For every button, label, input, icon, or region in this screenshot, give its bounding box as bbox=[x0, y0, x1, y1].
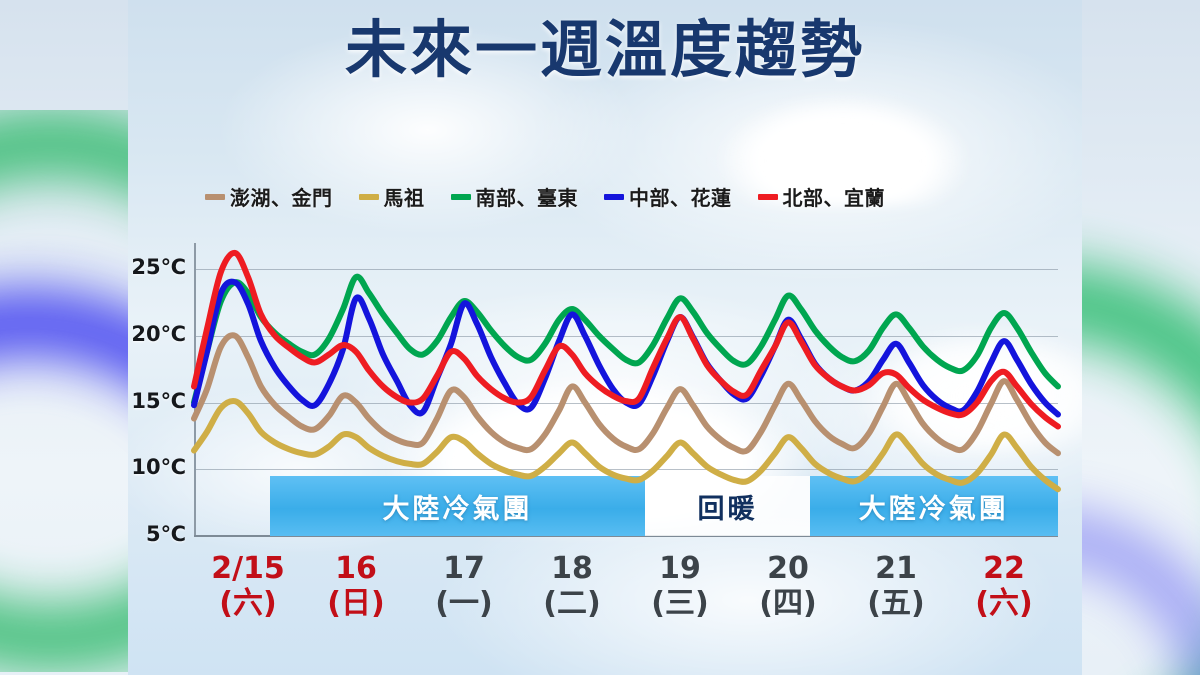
legend-swatch-icon bbox=[359, 194, 379, 200]
x-tick-weekday: (六) bbox=[194, 586, 302, 622]
legend-item-central_hualien: 中部、花蓮 bbox=[604, 182, 732, 211]
legend-label: 南部、臺東 bbox=[476, 182, 579, 211]
y-tick-label: 25℃ bbox=[118, 255, 186, 279]
y-tick-label: 20℃ bbox=[118, 322, 186, 346]
x-tick-day-3: 18(二) bbox=[518, 552, 626, 622]
series-line-北部、宜蘭 bbox=[194, 253, 1058, 427]
x-tick-date: 18 bbox=[518, 552, 626, 586]
x-tick-day-7: 22(六) bbox=[950, 552, 1058, 622]
x-tick-date: 20 bbox=[734, 552, 842, 586]
page-title: 未來一週溫度趨勢 bbox=[128, 8, 1082, 92]
legend-item-north_yilan: 北部、宜蘭 bbox=[758, 182, 886, 211]
y-tick-10: 10℃ bbox=[118, 455, 186, 479]
chart-legend: 澎湖、金門馬祖南部、臺東中部、花蓮北部、宜蘭 bbox=[205, 182, 885, 211]
x-tick-day-2: 17(一) bbox=[410, 552, 518, 622]
legend-swatch-icon bbox=[758, 194, 778, 200]
y-tick-25: 25℃ bbox=[118, 255, 186, 279]
x-tick-weekday: (六) bbox=[950, 586, 1058, 622]
x-tick-day-0: 2/15(六) bbox=[194, 552, 302, 622]
legend-swatch-icon bbox=[451, 194, 471, 200]
x-tick-weekday: (三) bbox=[626, 586, 734, 622]
y-tick-20: 20℃ bbox=[118, 322, 186, 346]
legend-label: 北部、宜蘭 bbox=[783, 182, 886, 211]
legend-label: 馬祖 bbox=[384, 182, 425, 211]
x-tick-day-1: 16(日) bbox=[302, 552, 410, 622]
x-tick-date: 17 bbox=[410, 552, 518, 586]
x-tick-date: 16 bbox=[302, 552, 410, 586]
x-tick-day-6: 21(五) bbox=[842, 552, 950, 622]
weather-chart-screenshot: 未來一週溫度趨勢 澎湖、金門馬祖南部、臺東中部、花蓮北部、宜蘭 25℃20℃15… bbox=[0, 0, 1200, 675]
x-tick-date: 22 bbox=[950, 552, 1058, 586]
x-tick-date: 19 bbox=[626, 552, 734, 586]
series-line-南部、臺東 bbox=[194, 277, 1058, 403]
x-tick-weekday: (五) bbox=[842, 586, 950, 622]
y-tick-5: 5℃ bbox=[118, 522, 186, 546]
x-tick-weekday: (四) bbox=[734, 586, 842, 622]
x-tick-day-5: 20(四) bbox=[734, 552, 842, 622]
temperature-line-plot bbox=[194, 243, 1058, 536]
y-tick-15: 15℃ bbox=[118, 389, 186, 413]
y-tick-label: 5℃ bbox=[118, 522, 186, 546]
x-tick-weekday: (日) bbox=[302, 586, 410, 622]
legend-item-matsu: 馬祖 bbox=[359, 182, 425, 211]
x-tick-weekday: (一) bbox=[410, 586, 518, 622]
x-tick-day-4: 19(三) bbox=[626, 552, 734, 622]
x-tick-date: 2/15 bbox=[194, 552, 302, 586]
x-tick-date: 21 bbox=[842, 552, 950, 586]
legend-swatch-icon bbox=[604, 194, 624, 200]
x-tick-weekday: (二) bbox=[518, 586, 626, 622]
y-tick-label: 10℃ bbox=[118, 455, 186, 479]
legend-item-south_taitung: 南部、臺東 bbox=[451, 182, 579, 211]
legend-label: 澎湖、金門 bbox=[230, 182, 333, 211]
legend-swatch-icon bbox=[205, 194, 225, 200]
legend-item-penghu_kinmen: 澎湖、金門 bbox=[205, 182, 333, 211]
legend-label: 中部、花蓮 bbox=[629, 182, 732, 211]
y-tick-label: 15℃ bbox=[118, 389, 186, 413]
x-axis-labels: 2/15(六)16(日)17(一)18(二)19(三)20(四)21(五)22(… bbox=[194, 552, 1058, 632]
